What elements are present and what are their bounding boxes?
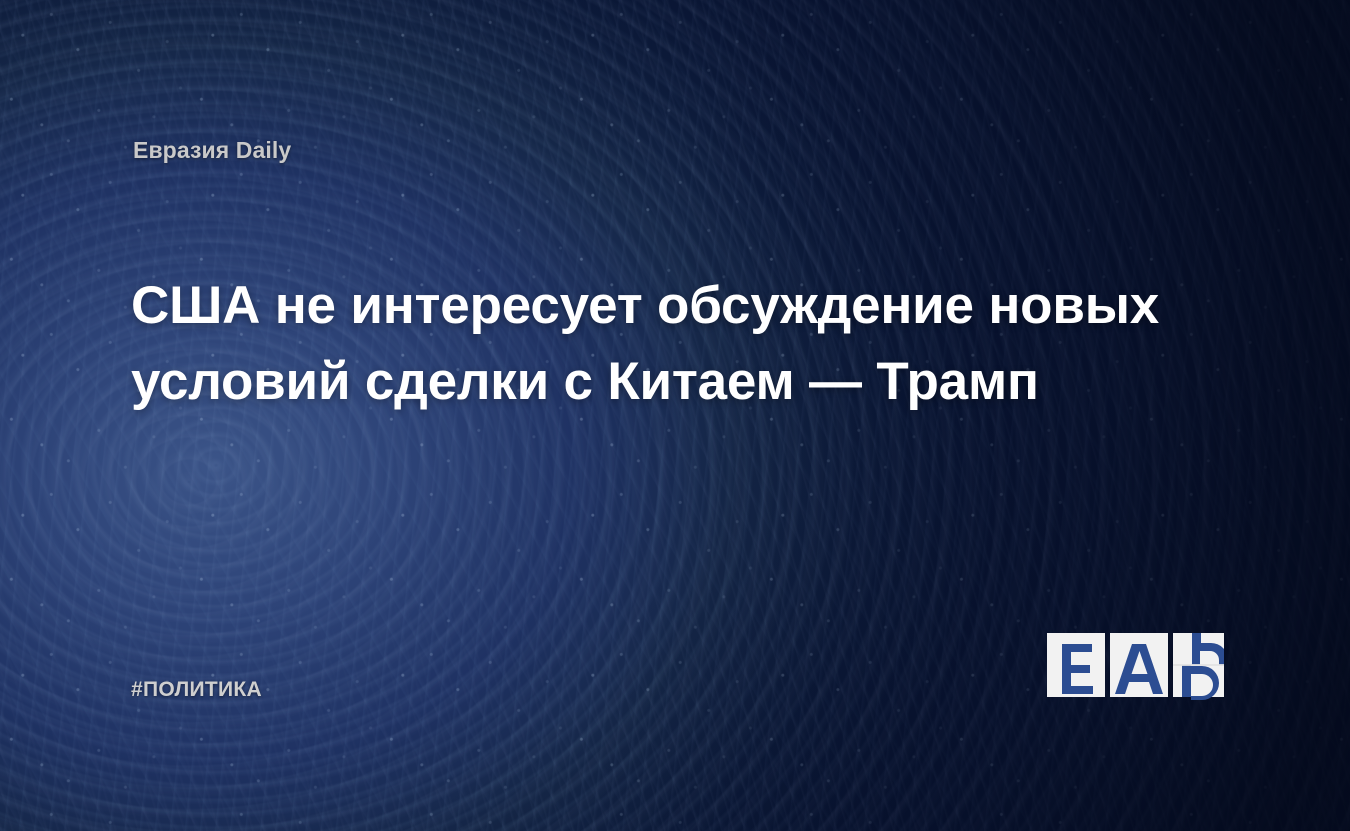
publication-wordmark[interactable]: Евразия Daily	[133, 137, 291, 164]
category-tag[interactable]: #ПОЛИТИКА	[131, 678, 262, 702]
ead-letter-e-glyph	[1062, 644, 1093, 694]
headline: США не интересует обсуждение новых услов…	[131, 268, 1201, 420]
ead-logo[interactable]	[1046, 624, 1224, 710]
news-card: Евразия Daily США не интересует обсужден…	[0, 0, 1350, 831]
ead-tile-d-seam	[1173, 664, 1224, 666]
